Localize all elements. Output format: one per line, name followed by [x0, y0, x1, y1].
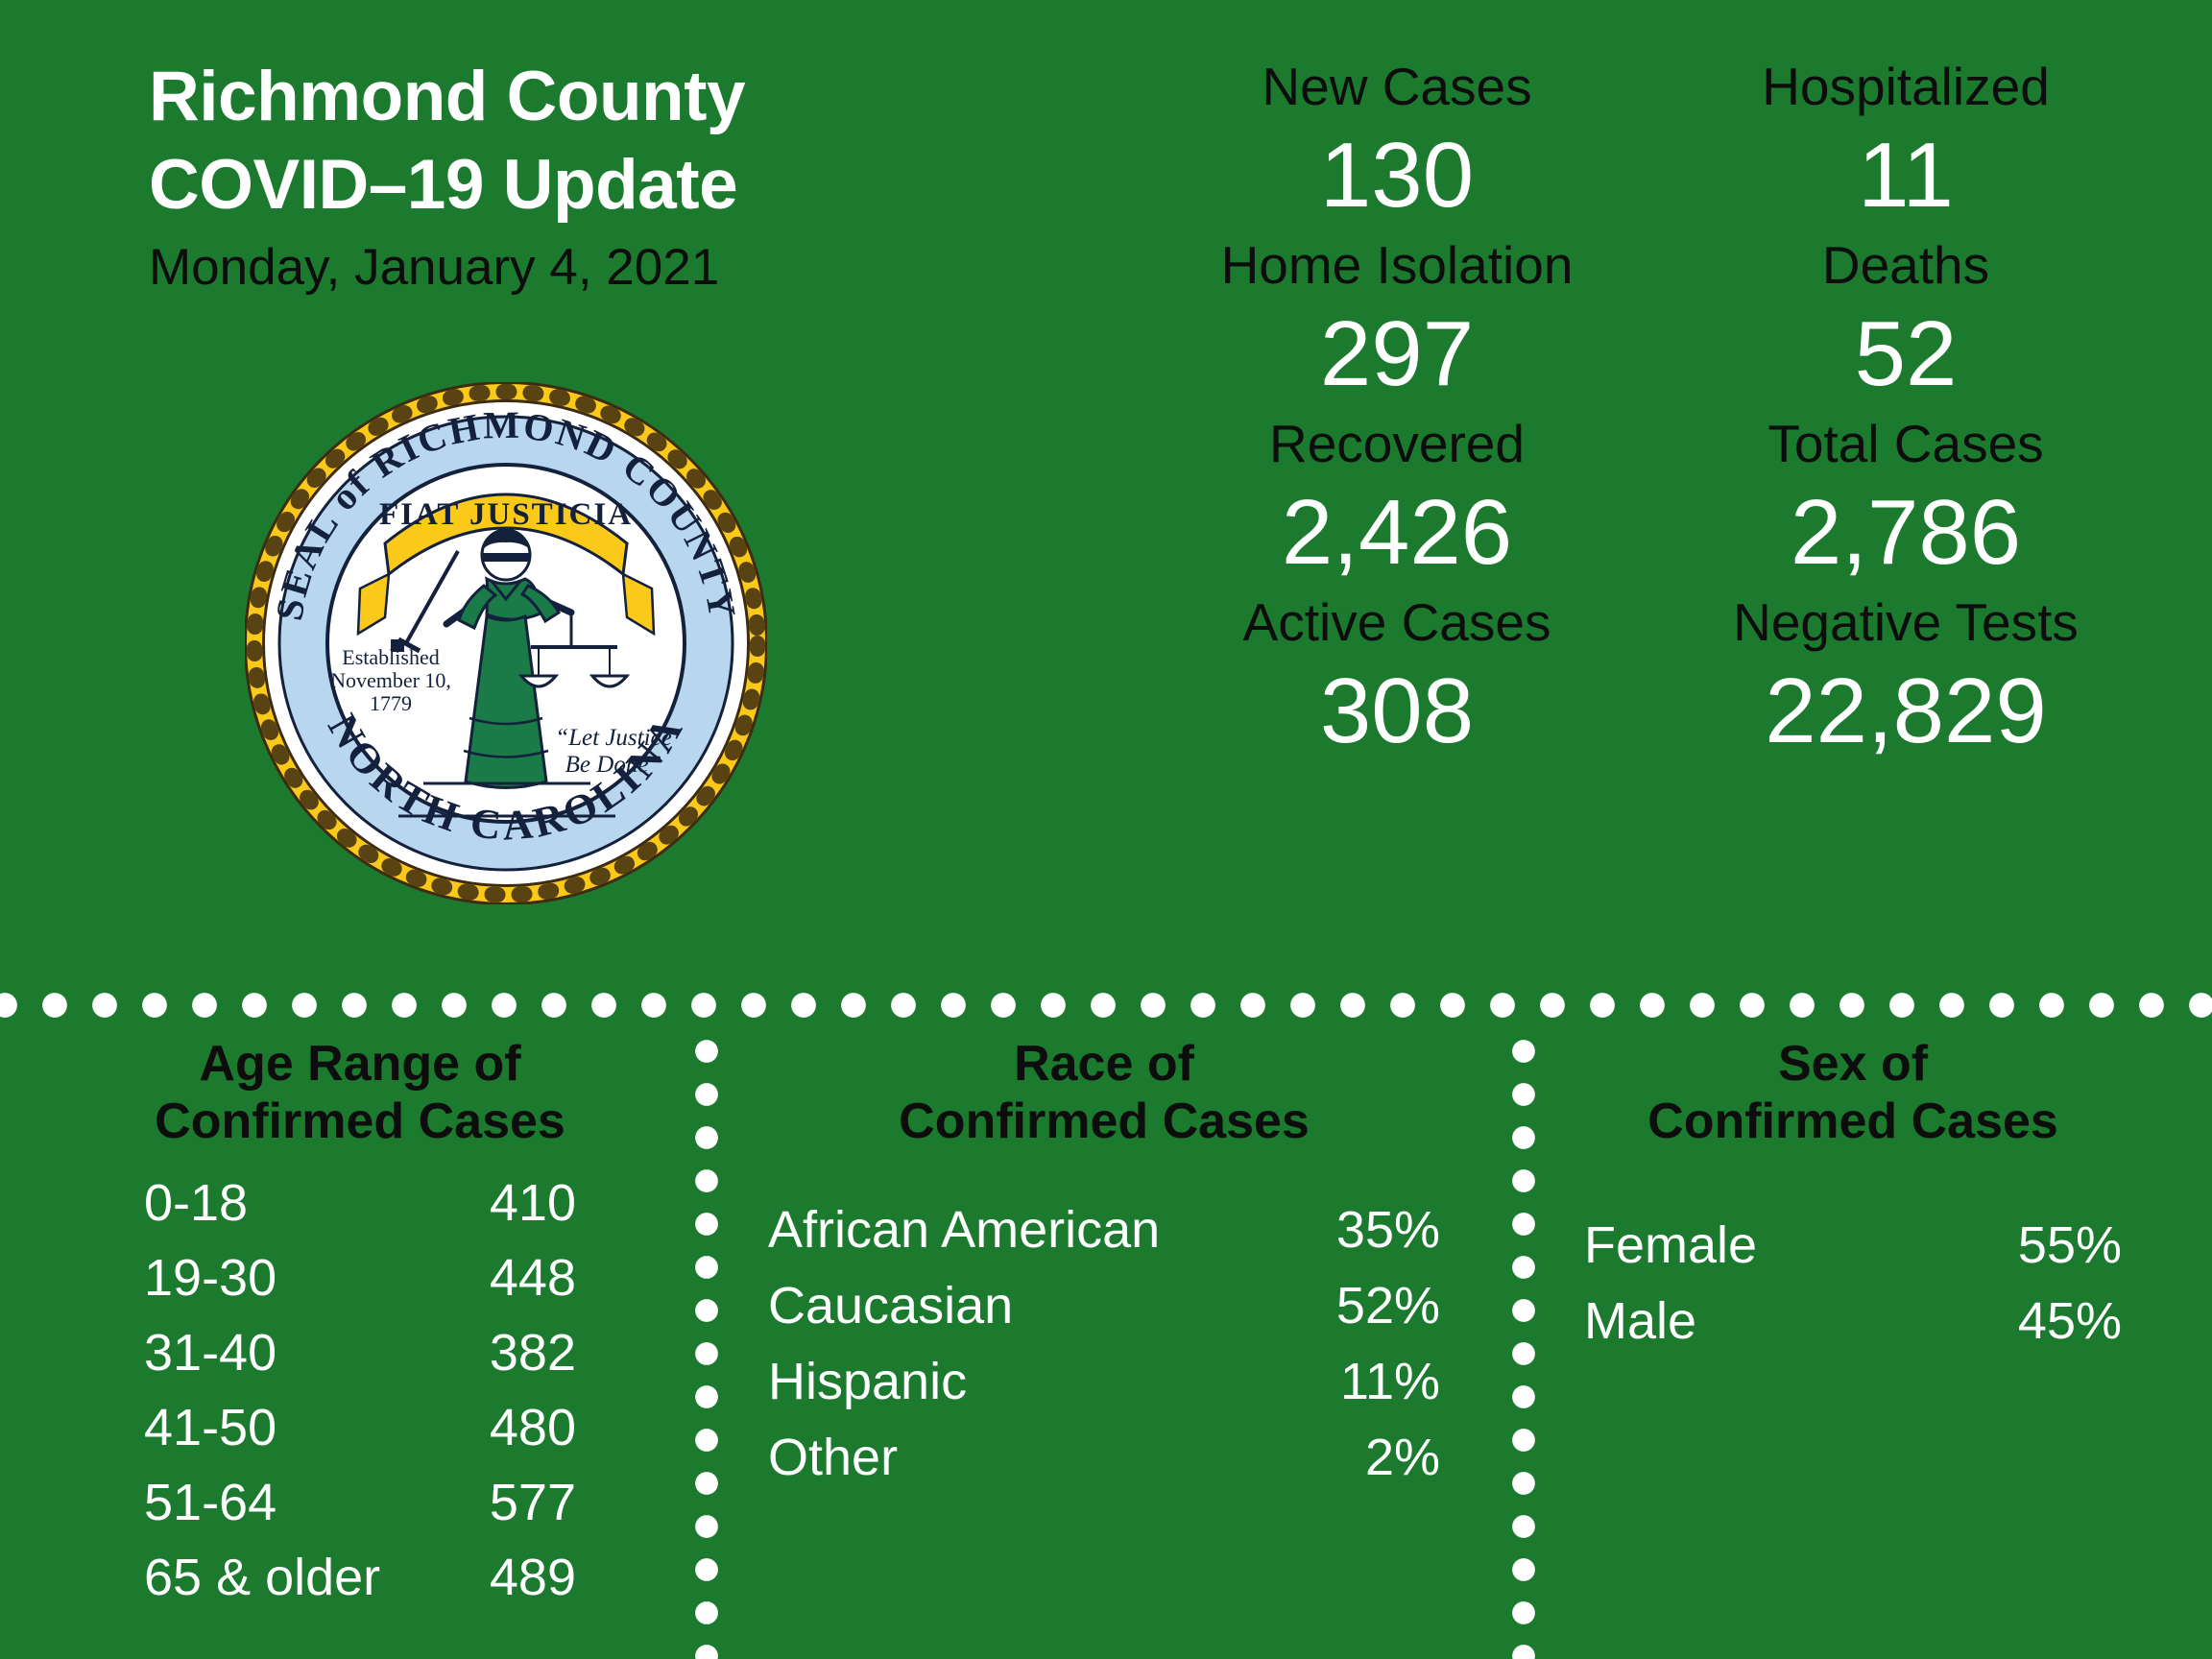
panel-title-line1: Age Range of — [144, 1035, 576, 1093]
row-key: 0-18 — [144, 1166, 248, 1240]
stat-new-cases: New Cases 130 — [1142, 50, 1651, 228]
row-key: Caucasian — [768, 1268, 1013, 1344]
stat-label: Negative Tests — [1651, 586, 2160, 659]
panel-title-line2: Confirmed Cases — [144, 1093, 576, 1150]
row-value: 11% — [1340, 1344, 1440, 1420]
svg-text:Established: Established — [342, 645, 439, 669]
row-value: 2% — [1365, 1420, 1440, 1496]
stat-negative-tests: Negative Tests 22,829 — [1651, 586, 2160, 764]
header-title-block: Richmond County COVID–19 Update Monday, … — [149, 53, 878, 302]
svg-text:Be Done”: Be Done” — [565, 752, 662, 778]
row-key: Hispanic — [768, 1344, 967, 1420]
table-row: 0-18 410 — [144, 1166, 576, 1240]
row-key: 65 & older — [144, 1540, 380, 1615]
row-value: 35% — [1336, 1192, 1440, 1268]
stat-active-cases: Active Cases 308 — [1142, 586, 1651, 764]
infographic-page: Richmond County COVID–19 Update Monday, … — [0, 0, 2212, 1659]
age-rows: 0-18 410 19-30 448 31-40 382 41-50 480 5… — [144, 1166, 576, 1615]
stat-value: 2,786 — [1651, 480, 2160, 586]
stat-home-isolation: Home Isolation 297 — [1142, 228, 1651, 407]
row-key: 41-50 — [144, 1390, 276, 1465]
stat-recovered: Recovered 2,426 — [1142, 407, 1651, 586]
svg-text:1779: 1779 — [370, 691, 412, 715]
row-value: 448 — [490, 1240, 576, 1315]
vertical-dotted-divider-right — [1510, 1039, 1537, 1659]
panel-title-line2: Confirmed Cases — [1584, 1093, 2122, 1150]
table-row: 65 & older 489 — [144, 1540, 576, 1615]
stat-total-cases: Total Cases 2,786 — [1651, 407, 2160, 586]
stat-value: 297 — [1142, 301, 1651, 407]
table-row: 31-40 382 — [144, 1315, 576, 1390]
stat-label: Home Isolation — [1142, 228, 1651, 301]
summary-stats-grid: New Cases 130 Hospitalized 11 Home Isola… — [1142, 50, 2160, 764]
stat-deaths: Deaths 52 — [1651, 228, 2160, 407]
stat-label: Active Cases — [1142, 586, 1651, 659]
table-row: 19-30 448 — [144, 1240, 576, 1315]
row-key: Other — [768, 1420, 898, 1496]
row-key: Male — [1584, 1284, 1696, 1359]
table-row: Hispanic 11% — [768, 1344, 1440, 1420]
stat-label: Hospitalized — [1651, 50, 2160, 123]
stat-label: New Cases — [1142, 50, 1651, 123]
stat-label: Total Cases — [1651, 407, 2160, 480]
row-value: 45% — [2018, 1284, 2122, 1359]
row-value: 480 — [490, 1390, 576, 1465]
richmond-county-seal-icon: SEAL of RICHMOND COUNTY NORTH CAROLINA F… — [245, 382, 767, 904]
row-key: Female — [1584, 1208, 1757, 1284]
seal-banner-text: FIAT JUSTICIA — [379, 497, 633, 532]
table-row: African American 35% — [768, 1192, 1440, 1268]
panel-title-line1: Sex of — [1584, 1035, 2122, 1093]
stat-value: 2,426 — [1142, 480, 1651, 586]
row-key: 51-64 — [144, 1465, 276, 1540]
stat-label: Recovered — [1142, 407, 1651, 480]
panel-age-range: Age Range of Confirmed Cases 0-18 410 19… — [144, 1035, 576, 1615]
vertical-dotted-divider-left — [693, 1039, 720, 1659]
table-row: Other 2% — [768, 1420, 1440, 1496]
row-value: 382 — [490, 1315, 576, 1390]
sex-rows: Female 55% Male 45% — [1584, 1208, 2122, 1359]
stat-value: 22,829 — [1651, 659, 2160, 764]
report-date: Monday, January 4, 2021 — [149, 233, 878, 302]
stat-value: 308 — [1142, 659, 1651, 764]
table-row: 51-64 577 — [144, 1465, 576, 1540]
row-value: 410 — [490, 1166, 576, 1240]
row-value: 577 — [490, 1465, 576, 1540]
row-value: 52% — [1336, 1268, 1440, 1344]
row-key: 31-40 — [144, 1315, 276, 1390]
table-row: 41-50 480 — [144, 1390, 576, 1465]
panel-title-line1: Race of — [768, 1035, 1440, 1093]
stat-value: 11 — [1651, 123, 2160, 228]
row-value: 489 — [490, 1540, 576, 1615]
panel-sex: Sex of Confirmed Cases Female 55% Male 4… — [1584, 1035, 2122, 1359]
row-key: African American — [768, 1192, 1160, 1268]
row-value: 55% — [2018, 1208, 2122, 1284]
stat-value: 52 — [1651, 301, 2160, 407]
stat-label: Deaths — [1651, 228, 2160, 301]
table-row: Caucasian 52% — [768, 1268, 1440, 1344]
table-row: Female 55% — [1584, 1208, 2122, 1284]
seal-motto-text: “Let Justice Be Done” — [555, 725, 672, 778]
svg-text:“Let Justice: “Let Justice — [555, 725, 672, 751]
panel-title-line2: Confirmed Cases — [768, 1093, 1440, 1150]
table-row: Male 45% — [1584, 1284, 2122, 1359]
row-key: 19-30 — [144, 1240, 276, 1315]
svg-text:November 10,: November 10, — [330, 668, 451, 692]
page-title-line1: Richmond County — [149, 53, 878, 141]
stat-hospitalized: Hospitalized 11 — [1651, 50, 2160, 228]
stat-value: 130 — [1142, 123, 1651, 228]
panel-race: Race of Confirmed Cases African American… — [768, 1035, 1440, 1496]
race-rows: African American 35% Caucasian 52% Hispa… — [768, 1192, 1440, 1496]
horizontal-dotted-divider — [0, 993, 2212, 1020]
page-title-line2: COVID–19 Update — [149, 141, 878, 229]
